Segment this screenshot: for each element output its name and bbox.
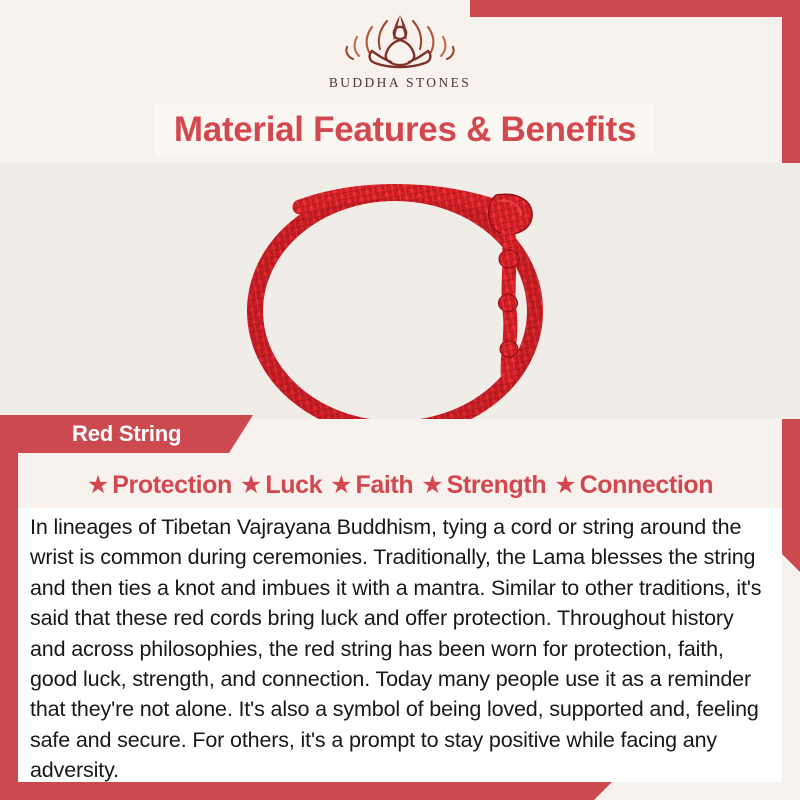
page-title: Material Features & Benefits: [174, 110, 636, 150]
brand-wordmark: BUDDHA STONES: [329, 75, 471, 91]
infographic-poster: BUDDHA STONES Material Features & Benefi…: [0, 0, 800, 800]
feature-item-luck: ★ Luck: [240, 471, 322, 500]
page-title-band: Material Features & Benefits: [155, 104, 655, 156]
feature-item-protection: ★ Protection: [87, 471, 232, 500]
brand-logo: BUDDHA STONES: [0, 0, 800, 104]
description-panel: In lineages of Tibetan Vajrayana Buddhis…: [18, 508, 782, 782]
feature-label: Faith: [356, 471, 414, 500]
feature-item-faith: ★ Faith: [330, 471, 413, 500]
star-icon: ★: [330, 473, 352, 498]
feature-label: Connection: [580, 471, 714, 500]
star-icon: ★: [554, 473, 576, 498]
feature-item-strength: ★ Strength: [421, 471, 546, 500]
feature-list: ★ Protection ★ Luck ★ Faith ★ Strength ★…: [0, 464, 800, 506]
feature-item-connection: ★ Connection: [554, 471, 713, 500]
feature-label: Luck: [265, 471, 322, 500]
product-image: [0, 163, 800, 419]
star-icon: ★: [87, 473, 109, 498]
lotus-meditation-icon: [325, 11, 475, 73]
description-text: In lineages of Tibetan Vajrayana Buddhis…: [30, 512, 768, 786]
red-braided-bracelet-illustration: [0, 163, 800, 419]
feature-label: Strength: [447, 471, 547, 500]
product-name-ribbon: Red String: [0, 415, 253, 453]
feature-label: Protection: [112, 471, 232, 500]
product-name: Red String: [72, 421, 181, 447]
star-icon: ★: [421, 473, 443, 498]
star-icon: ★: [240, 473, 262, 498]
